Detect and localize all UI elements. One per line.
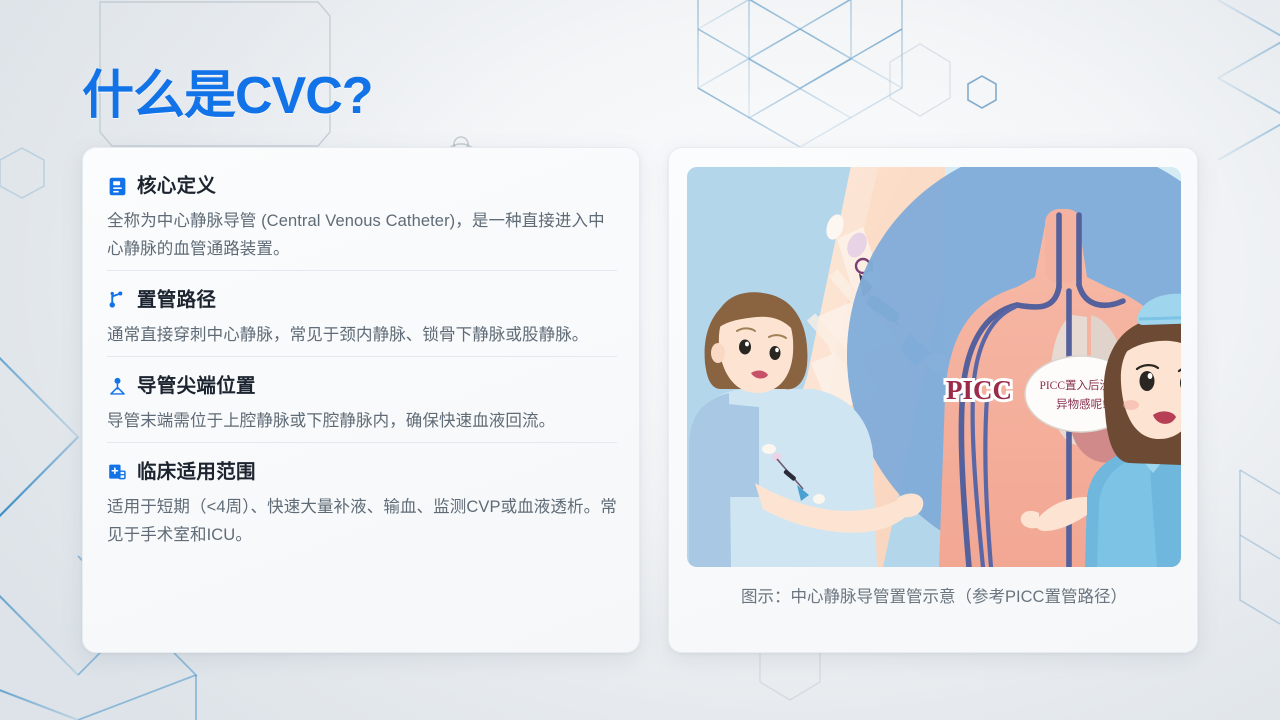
section-header: 导管尖端位置 [107, 371, 617, 401]
section-header: 置管路径 [107, 285, 617, 315]
hexagon-accent [968, 76, 996, 108]
catheter-illustration: PICC PICC PICC置入后没有 异物感呢! [687, 167, 1181, 567]
picc-label-text: PICC [946, 375, 1012, 405]
catheter-illustration-svg: PICC PICC PICC置入后没有 异物感呢! [687, 167, 1181, 567]
section-insertion-route: 置管路径 通常直接穿刺中心静脉，常见于颈内静脉、锁骨下静脉或股静脉。 [107, 270, 617, 356]
section-tip-position: 导管尖端位置 导管末端需位于上腔静脉或下腔静脉内，确保快速血液回流。 [107, 356, 617, 442]
section-body: 适用于短期（<4周）、快速大量补液、输血、监测CVP或血液透析。常见于手术室和I… [107, 493, 617, 549]
isometric-mesh [698, 0, 902, 147]
document-definition-icon [107, 176, 128, 197]
location-pin-icon [107, 376, 128, 397]
section-body: 通常直接穿刺中心静脉，常见于颈内静脉、锁骨下静脉或股静脉。 [107, 321, 617, 349]
page-title: 什么是CVC? [82, 52, 422, 140]
section-clinical-scope: 临床适用范围 适用于短期（<4周）、快速大量补液、输血、监测CVP或血液透析。常… [107, 442, 617, 556]
speech-bubble-line-2: 异物感呢! [1056, 397, 1106, 411]
section-body: 全称为中心静脉导管 (Central Venous Catheter)，是一种直… [107, 207, 617, 263]
picc-label: PICC PICC [946, 375, 1012, 405]
section-header: 临床适用范围 [107, 457, 617, 487]
definition-section-list: 核心定义 全称为中心静脉导管 (Central Venous Catheter)… [107, 171, 617, 556]
section-title: 导管尖端位置 [137, 371, 256, 401]
right-cube-lines [1218, 0, 1280, 160]
section-header: 核心定义 [107, 171, 617, 201]
section-title: 置管路径 [137, 285, 216, 315]
figure-caption: 图示：中心静脉导管置管示意（参考PICC置管路径） [687, 584, 1181, 610]
section-core-definition: 核心定义 全称为中心静脉导管 (Central Venous Catheter)… [107, 171, 617, 270]
medical-plus-icon [107, 462, 128, 483]
page-title-text: 什么是CVC? [82, 52, 422, 140]
section-title: 临床适用范围 [137, 457, 256, 487]
definition-card: 核心定义 全称为中心静脉导管 (Central Venous Catheter)… [82, 147, 640, 653]
slide-canvas: 什么是CVC? 核心定义 全称为中心静脉导管 (Central Venous C… [0, 0, 1280, 720]
section-title: 核心定义 [137, 171, 216, 201]
route-branch-icon [107, 290, 128, 311]
section-body: 导管末端需位于上腔静脉或下腔静脉内，确保快速血液回流。 [107, 407, 617, 435]
figure-card: PICC PICC PICC置入后没有 异物感呢! [668, 147, 1198, 653]
